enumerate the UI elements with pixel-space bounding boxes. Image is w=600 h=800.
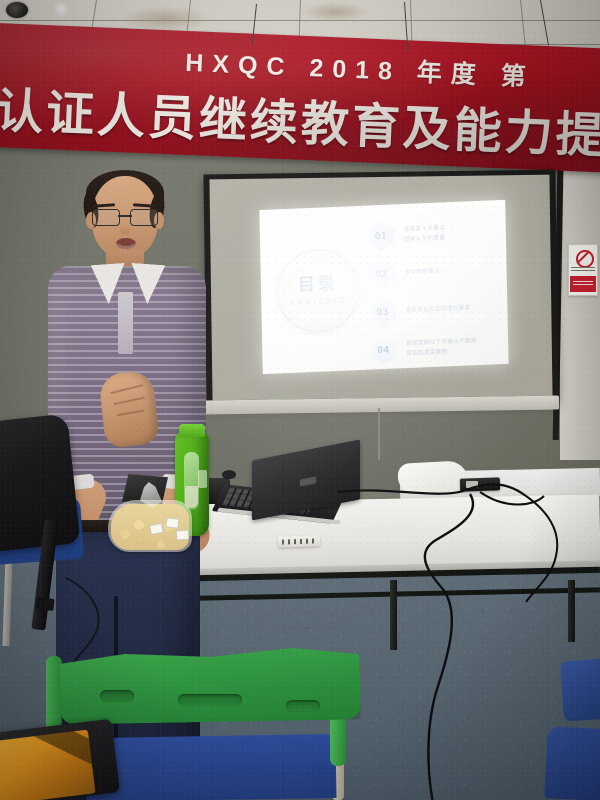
item-number: 01 — [375, 230, 387, 242]
contents-circle: 目录 CONTENTS — [276, 248, 360, 333]
blue-chair-right — [544, 726, 600, 800]
chair-seat — [85, 734, 336, 800]
hexagon-badge-icon: 02 — [368, 259, 395, 289]
photo-scene: HXQC 2018 年度 第 认证人员继续教育及能力提升 目录 CONTENTS… — [0, 0, 600, 800]
projection-surface: 目录 CONTENTS 01 某某某十大看点 国家认可的重要 02 — [209, 175, 552, 401]
item-number: 04 — [377, 344, 389, 356]
item-text: 某某变化及如何进行要求 — [405, 303, 470, 316]
hexagon-badge-icon: 04 — [370, 335, 397, 365]
contents-list: 01 某某某十大看点 国家认可的重要 02 本章内容要点 03 — [368, 212, 499, 369]
mouse — [222, 470, 236, 479]
presenter-remote[interactable] — [278, 535, 320, 547]
ceiling-speaker-icon — [6, 2, 28, 18]
presentation-slide: 目录 CONTENTS 01 某某某十大看点 国家认可的重要 02 — [259, 200, 508, 374]
hexagon-badge-icon: 03 — [369, 297, 396, 327]
item-text: 新版准则以下并确认不能修 现有的真实案例 — [406, 336, 477, 359]
projection-screen: 目录 CONTENTS 01 某某某十大看点 国家认可的重要 02 — [203, 170, 558, 407]
list-item: 03 某某变化及如何进行要求 — [369, 288, 498, 331]
list-item: 02 本章内容要点 — [368, 250, 497, 293]
event-banner: HXQC 2018 年度 第 认证人员继续教育及能力提升 — [0, 23, 600, 174]
no-smoking-sign — [568, 244, 598, 296]
bottle-cap — [179, 424, 205, 437]
item-number: 03 — [376, 306, 388, 318]
screen-cord — [378, 408, 380, 460]
hexagon-badge-icon: 01 — [368, 221, 395, 251]
mouth — [116, 238, 136, 249]
black-bag — [0, 414, 81, 553]
ceiling-light-icon — [52, 3, 72, 17]
list-item: 04 新版准则以下并确认不能修 现有的真实案例 — [370, 326, 499, 369]
contents-title-cn: 目录 — [298, 275, 338, 294]
list-item: 01 某某某十大看点 国家认可的重要 — [368, 212, 497, 255]
blue-chair-right-back — [560, 658, 600, 721]
green-chair-back — [59, 645, 360, 724]
item-number: 02 — [376, 268, 388, 280]
contents-title-en: CONTENTS — [290, 298, 346, 307]
clasped-hands — [98, 369, 159, 448]
item-text: 某某某十大看点 国家认可的重要 — [404, 223, 446, 245]
item-text: 本章内容要点 — [405, 267, 441, 279]
